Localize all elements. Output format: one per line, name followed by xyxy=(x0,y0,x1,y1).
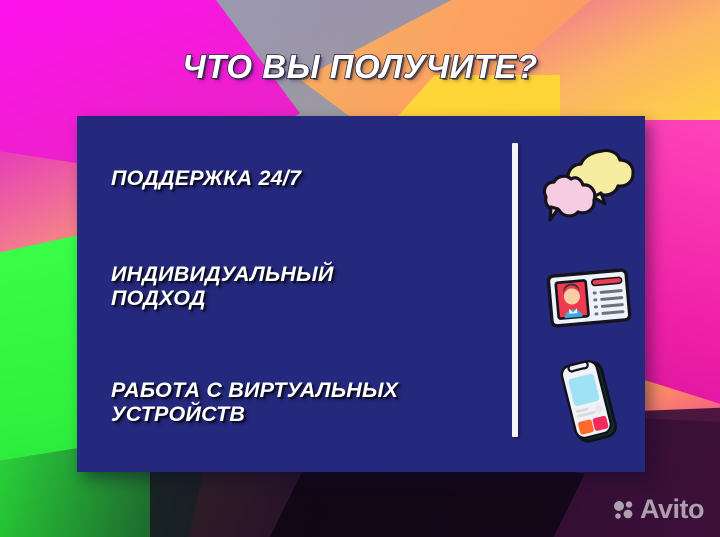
content-card: ПОДДЕРЖКА 24/7 ИНДИВИДУАЛЬНЫЙ ПОДХОД РАБ… xyxy=(77,116,645,472)
vertical-divider xyxy=(512,143,518,437)
page-title: ЧТО ВЫ ПОЛУЧИТЕ? xyxy=(0,48,720,86)
poster-canvas: ЧТО ВЫ ПОЛУЧИТЕ? ПОДДЕРЖКА 24/7 ИНДИВИДУ… xyxy=(0,0,720,537)
avito-watermark: Avito xyxy=(613,496,704,523)
speech-bubbles-icon xyxy=(541,146,637,238)
avito-wordmark: Avito xyxy=(640,496,704,523)
feature-icon-column xyxy=(532,132,645,462)
id-card-icon xyxy=(541,251,637,343)
avito-dots-logo xyxy=(613,499,635,521)
content-card-inner: ПОДДЕРЖКА 24/7 ИНДИВИДУАЛЬНЫЙ ПОДХОД РАБ… xyxy=(77,116,645,472)
smartphone-icon xyxy=(541,356,637,448)
